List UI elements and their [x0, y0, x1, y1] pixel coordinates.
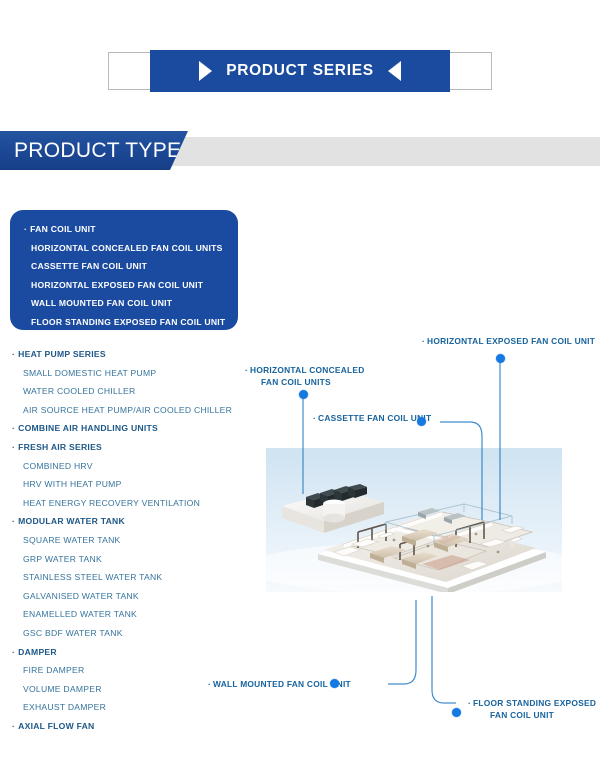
callout-label: ·CASSETTE FAN COIL UNIT: [313, 412, 431, 424]
callout-label-line2-wrap: FAN COIL UNIT: [468, 709, 596, 721]
sidebar-item-label: WATER COOLED CHILLER: [23, 386, 135, 396]
callout-label-line2-wrap: FAN COIL UNITS: [245, 376, 365, 388]
sidebar-item-label: SMALL DOMESTIC HEAT PUMP: [23, 368, 156, 378]
sidebar-item-label: COMBINED HRV: [23, 461, 93, 471]
bullet-icon: ·: [12, 442, 15, 452]
sidebar-item-damper[interactable]: ·DAMPER: [12, 643, 262, 662]
product-series-page: PRODUCT SERIES PRODUCT TYPES ·FAN COIL U…: [0, 0, 600, 762]
sidebar-item-enamelled-water-tank[interactable]: ENAMELLED WATER TANK: [12, 605, 262, 624]
sidebar-item-heat-pump-series[interactable]: ·HEAT PUMP SERIES: [12, 345, 262, 364]
callout-label-line1: HORIZONTAL EXPOSED FAN COIL UNIT: [427, 336, 595, 346]
callout-horizontal-exposed[interactable]: ·HORIZONTAL EXPOSED FAN COIL UNIT: [422, 335, 595, 347]
callout-horizontal-concealed[interactable]: ·HORIZONTAL CONCEALED FAN COIL UNITS: [245, 364, 365, 388]
list-item: HORIZONTAL EXPOSED FAN COIL UNIT: [24, 276, 238, 295]
sidebar-item-label: HRV WITH HEAT PUMP: [23, 479, 122, 489]
sidebar-item-modular-water-tank[interactable]: ·MODULAR WATER TANK: [12, 512, 262, 531]
callout-label-line1: FLOOR STANDING EXPOSED: [473, 698, 596, 708]
list-item: ·FAN COIL UNIT: [24, 220, 238, 239]
fan-coil-unit-highlight-box[interactable]: ·FAN COIL UNIT HORIZONTAL CONCEALED FAN …: [10, 210, 238, 330]
sidebar-item-label: SQUARE WATER TANK: [23, 535, 121, 545]
sidebar-item-small-domestic-heat-pump[interactable]: SMALL DOMESTIC HEAT PUMP: [12, 364, 262, 383]
bullet-icon: ·: [208, 679, 211, 689]
sidebar-item-label: HEAT PUMP SERIES: [18, 349, 106, 359]
building-hvac-illustration: [266, 448, 562, 592]
callout-label-line1: CASSETTE FAN COIL UNIT: [318, 413, 431, 423]
sidebar-item-axial-flow-fan[interactable]: ·AXIAL FLOW FAN: [12, 717, 262, 736]
product-types-grey-bar: [168, 137, 600, 166]
list-item: CASSETTE FAN COIL UNIT: [24, 257, 238, 276]
sidebar-item-label: DAMPER: [18, 647, 57, 657]
sidebar-item-label: GSC BDF WATER TANK: [23, 628, 123, 638]
bullet-icon: ·: [12, 423, 15, 433]
sidebar-item-water-cooled-chiller[interactable]: WATER COOLED CHILLER: [12, 382, 262, 401]
sidebar-item-air-source-heat-pump-air-cooled-chiller[interactable]: AIR SOURCE HEAT PUMP/AIR COOLED CHILLER: [12, 401, 262, 420]
bullet-icon: ·: [468, 698, 471, 708]
callout-cassette[interactable]: ·CASSETTE FAN COIL UNIT: [313, 412, 431, 424]
sidebar-item-galvanised-water-tank[interactable]: GALVANISED WATER TANK: [12, 587, 262, 606]
callout-dot-icon[interactable]: [299, 390, 308, 399]
callout-label: ·HORIZONTAL CONCEALED: [245, 364, 365, 376]
bullet-icon: ·: [12, 721, 15, 731]
list-item-label: FAN COIL UNIT: [30, 224, 96, 234]
sidebar-item-grp-water-tank[interactable]: GRP WATER TANK: [12, 550, 262, 569]
sidebar-item-label: FIRE DAMPER: [23, 665, 84, 675]
list-item: WALL MOUNTED FAN COIL UNIT: [24, 294, 238, 313]
triangle-right-icon: [199, 61, 212, 81]
sidebar-item-square-water-tank[interactable]: SQUARE WATER TANK: [12, 531, 262, 550]
bullet-icon: ·: [24, 224, 27, 234]
bullet-icon: ·: [12, 516, 15, 526]
callout-label: ·FLOOR STANDING EXPOSED: [468, 697, 596, 709]
sidebar-item-label: ENAMELLED WATER TANK: [23, 609, 137, 619]
list-item-label: HORIZONTAL CONCEALED FAN COIL UNITS: [31, 243, 223, 253]
sidebar-item-stainless-steel-water-tank[interactable]: STAINLESS STEEL WATER TANK: [12, 568, 262, 587]
list-item-label: CASSETTE FAN COIL UNIT: [31, 261, 147, 271]
product-series-bar: PRODUCT SERIES: [150, 50, 450, 92]
product-category-list: ·HEAT PUMP SERIESSMALL DOMESTIC HEAT PUM…: [12, 345, 262, 735]
bullet-icon: ·: [12, 647, 15, 657]
sidebar-item-label: AXIAL FLOW FAN: [18, 721, 94, 731]
bullet-icon: ·: [245, 365, 248, 375]
product-types-blue-tab: PRODUCT TYPES: [0, 131, 188, 170]
callout-dot-icon[interactable]: [417, 417, 426, 426]
callout-label-line1: HORIZONTAL CONCEALED: [250, 365, 365, 375]
sidebar-item-label: GRP WATER TANK: [23, 554, 102, 564]
sidebar-item-fire-damper[interactable]: FIRE DAMPER: [12, 661, 262, 680]
product-series-title: PRODUCT SERIES: [226, 62, 374, 80]
sidebar-item-label: HEAT ENERGY RECOVERY VENTILATION: [23, 498, 200, 508]
sidebar-item-heat-energy-recovery-ventilation[interactable]: HEAT ENERGY RECOVERY VENTILATION: [12, 494, 262, 513]
sidebar-item-label: EXHAUST DAMPER: [23, 702, 106, 712]
callout-dot-icon[interactable]: [330, 679, 339, 688]
sidebar-item-combine-air-handling-units[interactable]: ·COMBINE AIR HANDLING UNITS: [12, 419, 262, 438]
list-item: FLOOR STANDING EXPOSED FAN COIL UNIT: [24, 313, 238, 332]
callout-wall-mounted[interactable]: ·WALL MOUNTED FAN COIL UNIT: [208, 678, 351, 690]
list-item-label: HORIZONTAL EXPOSED FAN COIL UNIT: [31, 280, 203, 290]
bullet-icon: ·: [12, 349, 15, 359]
list-item: HORIZONTAL CONCEALED FAN COIL UNITS: [24, 239, 238, 258]
callout-dot-icon[interactable]: [496, 354, 505, 363]
sidebar-item-label: MODULAR WATER TANK: [18, 516, 125, 526]
sidebar-item-exhaust-damper[interactable]: EXHAUST DAMPER: [12, 698, 262, 717]
callout-label: ·HORIZONTAL EXPOSED FAN COIL UNIT: [422, 335, 595, 347]
sidebar-item-label: AIR SOURCE HEAT PUMP/AIR COOLED CHILLER: [23, 405, 232, 415]
sidebar-item-label: VOLUME DAMPER: [23, 684, 102, 694]
sidebar-item-label: GALVANISED WATER TANK: [23, 591, 139, 601]
sidebar-item-fresh-air-series[interactable]: ·FRESH AIR SERIES: [12, 438, 262, 457]
callout-label-line2: FAN COIL UNITS: [261, 377, 331, 387]
sidebar-item-label: COMBINE AIR HANDLING UNITS: [18, 423, 158, 433]
triangle-left-icon: [388, 61, 401, 81]
bullet-icon: ·: [313, 413, 316, 423]
sidebar-item-label: FRESH AIR SERIES: [18, 442, 102, 452]
callout-dot-icon[interactable]: [452, 708, 461, 717]
sidebar-item-combined-hrv[interactable]: COMBINED HRV: [12, 457, 262, 476]
sidebar-item-gsc-bdf-water-tank[interactable]: GSC BDF WATER TANK: [12, 624, 262, 643]
product-types-banner: PRODUCT TYPES: [0, 131, 600, 170]
bullet-icon: ·: [422, 336, 425, 346]
callout-floor-standing[interactable]: ·FLOOR STANDING EXPOSED FAN COIL UNIT: [468, 697, 596, 721]
product-types-title: PRODUCT TYPES: [0, 139, 196, 163]
callout-label-line2: FAN COIL UNIT: [490, 710, 554, 720]
list-item-label: WALL MOUNTED FAN COIL UNIT: [31, 298, 172, 308]
list-item-label: FLOOR STANDING EXPOSED FAN COIL UNIT: [31, 317, 225, 327]
sidebar-item-label: STAINLESS STEEL WATER TANK: [23, 572, 162, 582]
sidebar-item-hrv-with-heat-pump[interactable]: HRV WITH HEAT PUMP: [12, 475, 262, 494]
